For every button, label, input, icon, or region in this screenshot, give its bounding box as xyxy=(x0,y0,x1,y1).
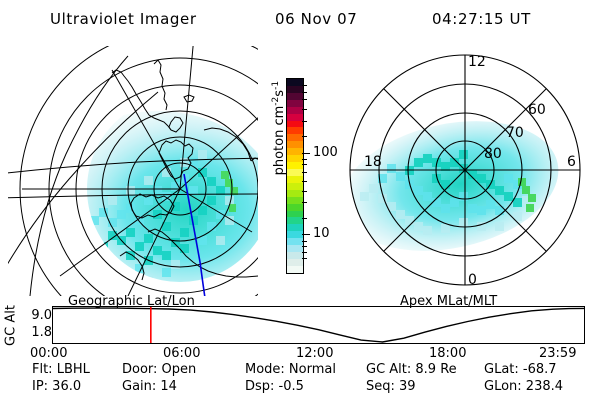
mlt-label-12: 12 xyxy=(468,54,486,70)
altitude-axis-label: GC Alt xyxy=(4,297,19,355)
colorbar-segment xyxy=(287,127,303,134)
mlat-mlt-polar-panel[interactable]: 12 6 0 18 60 70 80 xyxy=(342,46,590,296)
colorbar-minor-tick xyxy=(302,258,307,259)
colorbar-minor-tick xyxy=(302,164,307,165)
aurora-emission-region-mlt xyxy=(330,102,571,269)
colorbar-minor-tick xyxy=(302,191,307,192)
altitude-tick-low: 1.8 xyxy=(31,325,52,340)
colorbar-minor-tick xyxy=(302,85,307,86)
colorbar-segment xyxy=(287,183,303,190)
status-ip: IP: 36.0 xyxy=(32,379,81,394)
colorbar-tick-label: 100 xyxy=(313,145,338,160)
colorbar-minor-tick xyxy=(302,136,307,137)
altitude-curve xyxy=(52,306,585,344)
colorbar-minor-tick xyxy=(302,252,307,253)
mlt-panel-caption: Apex MLat/MLT xyxy=(400,294,497,309)
colorbar-minor-tick xyxy=(302,172,307,173)
colorbar-segment xyxy=(287,169,303,176)
colorbar-minor-tick xyxy=(302,109,307,110)
colorbar-segment xyxy=(287,252,303,259)
colorbar-segment xyxy=(287,204,303,211)
colorbar-segment xyxy=(287,121,303,128)
mlt-label-18: 18 xyxy=(364,154,382,170)
colorbar-segment xyxy=(287,190,303,197)
polar-grid xyxy=(350,55,580,285)
page-title: Ultraviolet Imager xyxy=(50,10,197,28)
status-gain: Gain: 14 xyxy=(122,379,177,394)
status-glat: GLat: -68.7 xyxy=(484,362,557,377)
colorbar-segment xyxy=(287,114,303,121)
colorbar-minor-tick xyxy=(302,159,307,160)
mlt-label-0: 0 xyxy=(468,272,477,288)
colorbar-segment xyxy=(287,197,303,204)
colorbar-segment xyxy=(287,148,303,155)
time-tick-4: 23:59 xyxy=(539,346,576,361)
header-bar: Ultraviolet Imager 06 Nov 07 04:27:15 UT xyxy=(0,6,600,32)
colorbar-segment xyxy=(287,79,303,86)
status-dsp: Dsp: -0.5 xyxy=(245,379,304,394)
colorbar-segment xyxy=(287,93,303,100)
orbit-altitude-strip[interactable]: GC Alt 9.0 1.8 Geographic Lat/Lon Apex M… xyxy=(0,296,600,358)
observation-time: 04:27:15 UT xyxy=(432,10,531,28)
status-glon: GLon: 238.4 xyxy=(484,379,563,394)
colorbar-segment xyxy=(287,155,303,162)
colorbar-segment xyxy=(287,176,303,183)
status-door: Door: Open xyxy=(122,362,196,377)
geographic-image-panel[interactable] xyxy=(8,46,258,296)
colorbar-minor-tick xyxy=(302,121,307,122)
colorbar-major-tick xyxy=(302,234,310,235)
colorbar-minor-tick xyxy=(302,181,307,182)
time-tick-3: 18:00 xyxy=(429,346,466,361)
colorbar-segment xyxy=(287,162,303,169)
status-seq: Seq: 39 xyxy=(366,379,416,394)
altitude-axis: GC Alt 9.0 1.8 xyxy=(0,296,52,346)
observation-date: 06 Nov 07 xyxy=(275,10,357,28)
colorbar-segment xyxy=(287,217,303,224)
colorbar-minor-tick xyxy=(302,99,307,100)
colorbar-segment xyxy=(287,245,303,252)
time-tick-2: 12:00 xyxy=(296,346,333,361)
status-flt: Flt: LBHL xyxy=(32,362,90,377)
colorbar-segment xyxy=(287,224,303,231)
colorbar-segment xyxy=(287,231,303,238)
colorbar-segment xyxy=(287,86,303,93)
colorbar-ticks: 10010 xyxy=(302,78,342,272)
mlat-label-80: 80 xyxy=(484,146,502,162)
colorbar-minor-tick xyxy=(302,202,307,203)
time-tick-0: 00:00 xyxy=(30,346,67,361)
colorbar-segment xyxy=(287,141,303,148)
colorbar-tick-label: 10 xyxy=(313,226,330,241)
colorbar: photon cm-2s-1 10010 xyxy=(262,60,340,290)
geo-panel-caption: Geographic Lat/Lon xyxy=(68,294,195,309)
time-tick-1: 06:00 xyxy=(163,346,200,361)
colorbar-segment xyxy=(287,100,303,107)
status-mode: Mode: Normal xyxy=(245,362,336,377)
mlat-label-70: 70 xyxy=(506,125,524,141)
colorbar-axis-label: photon cm-2s-1 xyxy=(271,53,287,203)
altitude-plot-area[interactable]: Geographic Lat/Lon Apex MLat/MLT 00:00 0… xyxy=(52,306,585,344)
colorbar-minor-tick xyxy=(302,218,307,219)
colorbar-segment xyxy=(287,211,303,218)
status-footer: Flt: LBHL IP: 36.0 Door: Open Gain: 14 M… xyxy=(0,362,600,398)
status-gc-alt: GC Alt: 8.9 Re xyxy=(366,362,457,377)
altitude-tick-high: 9.0 xyxy=(31,308,52,323)
colorbar-segment xyxy=(287,107,303,114)
colorbar-minor-tick xyxy=(302,241,307,242)
colorbar-major-tick xyxy=(302,153,310,154)
colorbar-segment xyxy=(287,259,303,266)
mlat-label-60: 60 xyxy=(528,102,546,118)
colorbar-segment xyxy=(287,134,303,141)
colorbar-segment xyxy=(287,238,303,245)
colorbar-minor-tick xyxy=(302,92,307,93)
mlt-label-6: 6 xyxy=(567,154,576,170)
colorbar-minor-tick xyxy=(302,246,307,247)
colorbar-segment xyxy=(287,266,303,273)
